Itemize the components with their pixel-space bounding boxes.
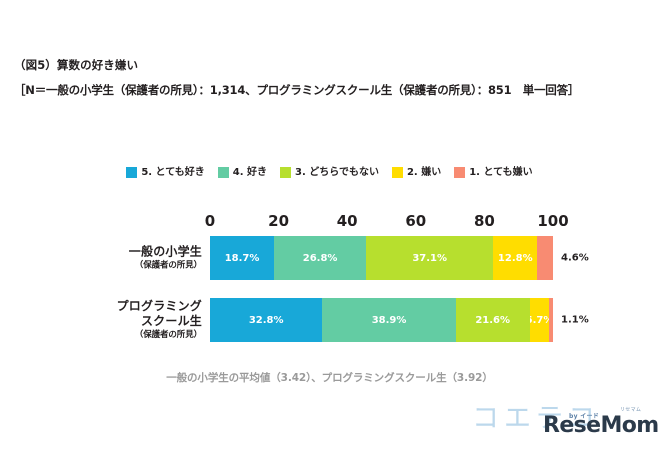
bar-segment[interactable]: 32.8% xyxy=(210,298,322,342)
bar-segment[interactable]: 21.6% xyxy=(456,298,530,342)
bar-segment[interactable] xyxy=(537,236,553,280)
bar-segment-value: 37.1% xyxy=(412,253,447,264)
table-row: プログラミングスクール生（保護者の所見）32.8%38.9%21.6%5.7%1… xyxy=(210,298,553,342)
legend-item[interactable]: 4. 好き xyxy=(218,167,267,178)
legend-item[interactable]: 2. 嫌い xyxy=(392,167,441,178)
bar-segment[interactable]: 38.9% xyxy=(322,298,455,342)
row-category-label-line: 一般の小学生 xyxy=(129,245,202,260)
legend-item-label: 3. どちらでもない xyxy=(295,167,379,178)
resemom-ruby: リセマム xyxy=(620,408,641,413)
resemom-byline: by イード xyxy=(569,414,599,420)
x-axis-tick-label: 0 xyxy=(205,212,215,230)
bar-segment-value: 38.9% xyxy=(372,315,407,326)
legend-item-label: 1. とても嫌い xyxy=(469,167,532,178)
legend-item-label: 5. とても好き xyxy=(141,167,204,178)
bar-segment-value: 32.8% xyxy=(249,315,284,326)
row-category-label: 一般の小学生（保護者の所見） xyxy=(129,245,202,272)
bar-segment[interactable] xyxy=(549,298,553,342)
row-category-label-line: （保護者の所見） xyxy=(117,329,202,341)
bar-segment-value: 18.7% xyxy=(225,253,260,264)
bar-segment[interactable]: 37.1% xyxy=(366,236,493,280)
bar-segment-value: 12.8% xyxy=(498,253,533,264)
legend-item[interactable]: 1. とても嫌い xyxy=(454,167,532,178)
row-category-label-line: スクール生 xyxy=(117,314,202,329)
legend-swatch-icon xyxy=(392,167,403,178)
page-title: （図5）算数の好き嫌い xyxy=(14,57,654,73)
bar-segment-value-outside: 4.6% xyxy=(561,253,589,264)
legend-swatch-icon xyxy=(454,167,465,178)
bar-segment-value: 21.6% xyxy=(475,315,510,326)
legend-swatch-icon xyxy=(218,167,229,178)
bar-segment-value: 5.7% xyxy=(530,315,550,326)
legend-swatch-icon xyxy=(280,167,291,178)
x-axis-tick-label: 100 xyxy=(537,212,568,230)
chart-legend: 5. とても好き4. 好き3. どちらでもない2. 嫌い1. とても嫌い xyxy=(0,167,659,178)
x-axis-tick-label: 20 xyxy=(268,212,289,230)
bar-segment[interactable]: 12.8% xyxy=(493,236,537,280)
legend-item[interactable]: 3. どちらでもない xyxy=(280,167,379,178)
legend-swatch-icon xyxy=(126,167,137,178)
bar-segment[interactable]: 26.8% xyxy=(274,236,366,280)
legend-item[interactable]: 5. とても好き xyxy=(126,167,204,178)
bar-segment[interactable]: 18.7% xyxy=(210,236,274,280)
row-category-label-line: （保護者の所見） xyxy=(129,260,202,272)
row-category-label-line: プログラミング xyxy=(117,299,202,314)
row-category-label: プログラミングスクール生（保護者の所見） xyxy=(117,299,202,341)
x-axis-tick-label: 40 xyxy=(337,212,358,230)
page-subtitle: ［N＝一般の小学生（保護者の所見）：1,314、プログラミングスクール生（保護者… xyxy=(14,82,654,98)
legend-item-label: 4. 好き xyxy=(233,167,267,178)
chart-header: （図5）算数の好き嫌い ［N＝一般の小学生（保護者の所見）：1,314、プログラ… xyxy=(14,57,654,98)
bar-segment-value: 26.8% xyxy=(303,253,338,264)
stacked-bar: 32.8%38.9%21.6%5.7% xyxy=(210,298,553,342)
legend-item-label: 2. 嫌い xyxy=(407,167,441,178)
stacked-bar: 18.7%26.8%37.1%12.8% xyxy=(210,236,553,280)
x-axis-tick-label: 60 xyxy=(405,212,426,230)
bar-segment-value-outside: 1.1% xyxy=(561,315,589,326)
table-row: 一般の小学生（保護者の所見）18.7%26.8%37.1%12.8%4.6% xyxy=(210,236,553,280)
chart-footnote: 一般の小学生の平均値（3.42）、プログラミングスクール生（3.92） xyxy=(0,370,659,385)
x-axis-tick-label: 80 xyxy=(474,212,495,230)
resemom-wordmark: ReseMom. xyxy=(543,413,659,438)
bar-segment[interactable]: 5.7% xyxy=(530,298,550,342)
x-axis: 020406080100 xyxy=(210,212,553,236)
resemom-watermark: ReseMom. by イード リセマム xyxy=(543,415,659,437)
chart-plot-area: 020406080100 一般の小学生（保護者の所見）18.7%26.8%37.… xyxy=(210,212,553,342)
